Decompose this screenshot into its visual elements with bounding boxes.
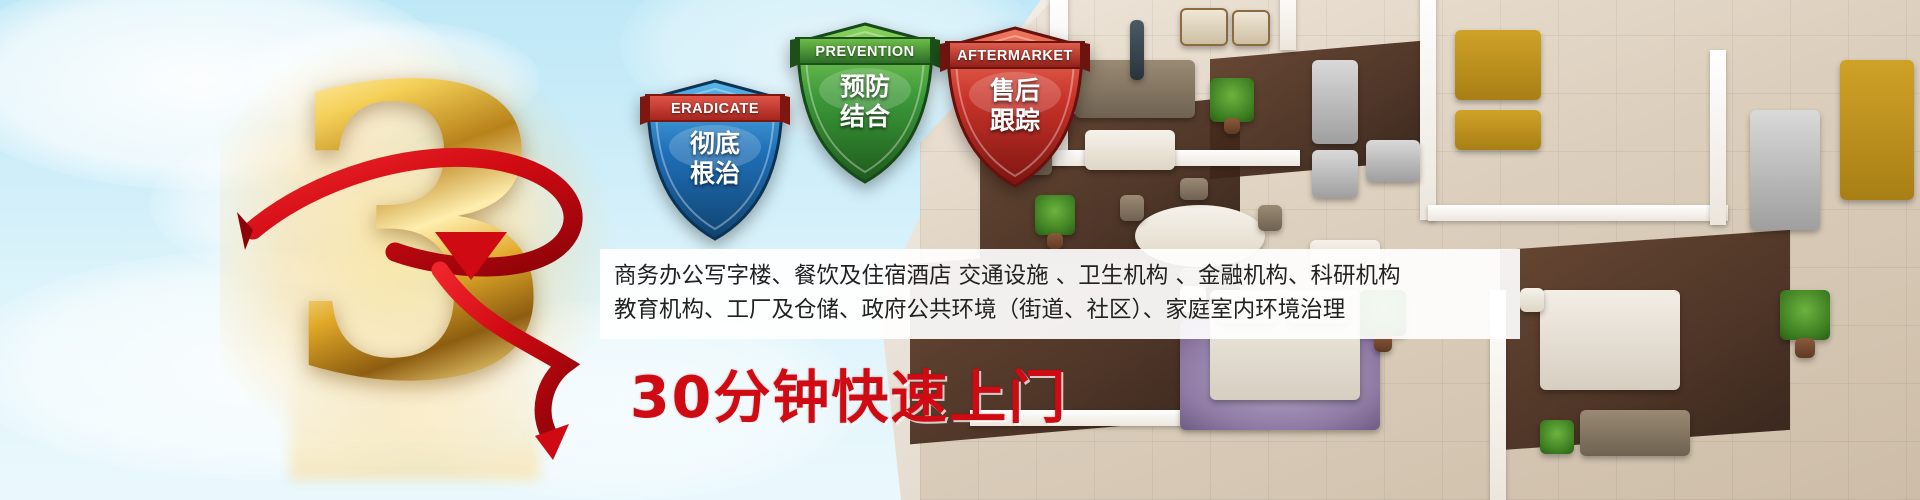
shield-badge-aftermarket: AFTERMARKET 售后 跟踪 <box>940 22 1090 192</box>
service-scope-line-1: 商务办公写字楼、餐饮及住宿酒店 交通设施 、卫生机构 、金融机构、科研机构 <box>614 259 1506 293</box>
shield-english-label: AFTERMARKET <box>940 48 1090 64</box>
cloud-icon <box>0 0 460 190</box>
cloud-icon <box>0 250 560 480</box>
service-scope-line-2: 教育机构、工厂及仓储、政府公共环境（街道、社区）、家庭室内环境治理 <box>614 293 1506 327</box>
shield-english-label: ERADICATE <box>640 101 790 117</box>
numeral-glyph: 3 <box>270 70 570 430</box>
promo-banner: 3 <box>0 0 1920 500</box>
shield-chinese-label: 预防 结合 <box>790 72 940 132</box>
numeral-reflection <box>290 370 540 480</box>
service-scope-panel: 商务办公写字楼、餐饮及住宿酒店 交通设施 、卫生机构 、金融机构、科研机构 教育… <box>600 249 1520 339</box>
shield-chinese-label: 售后 跟踪 <box>940 76 1090 136</box>
shield-english-label: PREVENTION <box>790 44 940 60</box>
golden-numeral-3: 3 <box>270 70 570 430</box>
cloud-icon <box>240 20 540 140</box>
cloud-icon <box>150 120 570 290</box>
numeral-glow <box>220 30 620 470</box>
shield-badge-prevention: PREVENTION 预防 结合 <box>790 18 940 188</box>
shield-badge-eradicate: ERADICATE 彻底 根治 <box>640 75 790 245</box>
headline-text: 30分钟快速上门 <box>630 352 1067 434</box>
shield-chinese-label: 彻底 根治 <box>640 129 790 189</box>
